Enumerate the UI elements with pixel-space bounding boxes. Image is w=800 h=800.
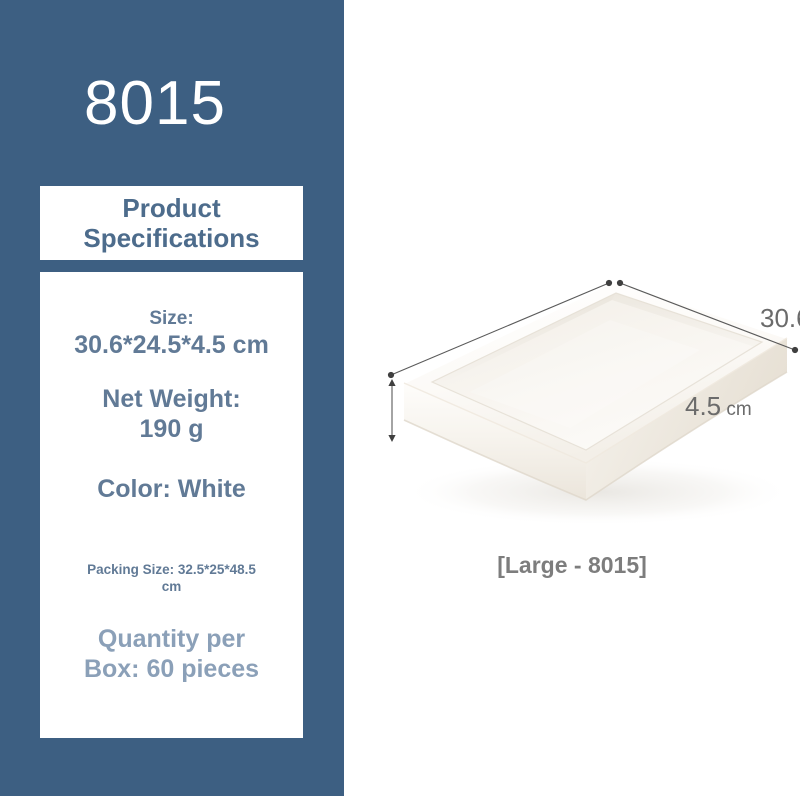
product-tray-illustration [0, 0, 800, 800]
dimension-width-number: 30.6 [760, 303, 800, 333]
dimension-height-unit: cm [721, 399, 752, 420]
product-spec-sheet: 8015 Product Specifications Size: 30.6*2… [0, 0, 800, 800]
product-caption: [Large - 8015] [344, 552, 800, 579]
dimension-label-width: 30.6 cm [760, 303, 800, 334]
dimension-height-number: 4.5 [685, 391, 721, 421]
product-image-area: 30.6 cm 23.5 cm 4.5 cm [344, 0, 800, 800]
dimension-label-height: 4.5 cm [685, 391, 752, 422]
